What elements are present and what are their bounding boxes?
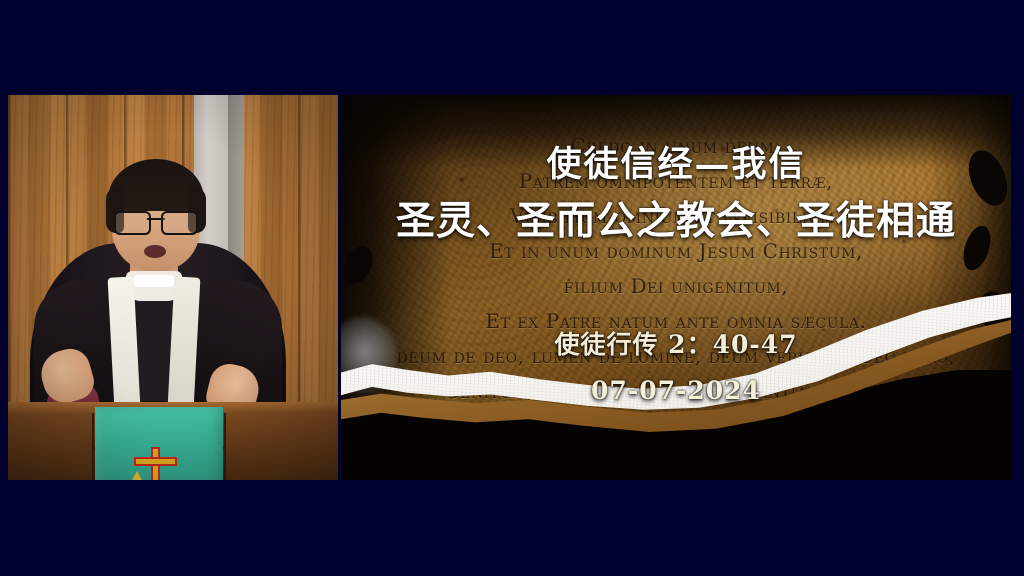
speaker-video-panel[interactable] bbox=[8, 95, 338, 480]
sermon-title-line-2: 圣灵、圣而公之教会、圣徒相通 bbox=[341, 195, 1011, 248]
presentation-stage: Credo in unum deum, Patrem omnipotentem … bbox=[0, 0, 1024, 576]
sermon-title-slide[interactable]: Credo in unum deum, Patrem omnipotentem … bbox=[341, 95, 1011, 480]
sermon-date: 07-07-2024 bbox=[341, 376, 1011, 405]
slide-text-layer: 使徒信经—我信 圣灵、圣而公之教会、圣徒相通 使徒行传 2：40-47 07-0… bbox=[341, 95, 1011, 480]
video-vignette bbox=[8, 95, 338, 480]
slide-title-block: 使徒信经—我信 圣灵、圣而公之教会、圣徒相通 bbox=[341, 143, 1011, 247]
sermon-title-line-1: 使徒信经—我信 bbox=[341, 143, 1011, 187]
scripture-reference: 使徒行传 2：40-47 bbox=[341, 325, 1011, 361]
